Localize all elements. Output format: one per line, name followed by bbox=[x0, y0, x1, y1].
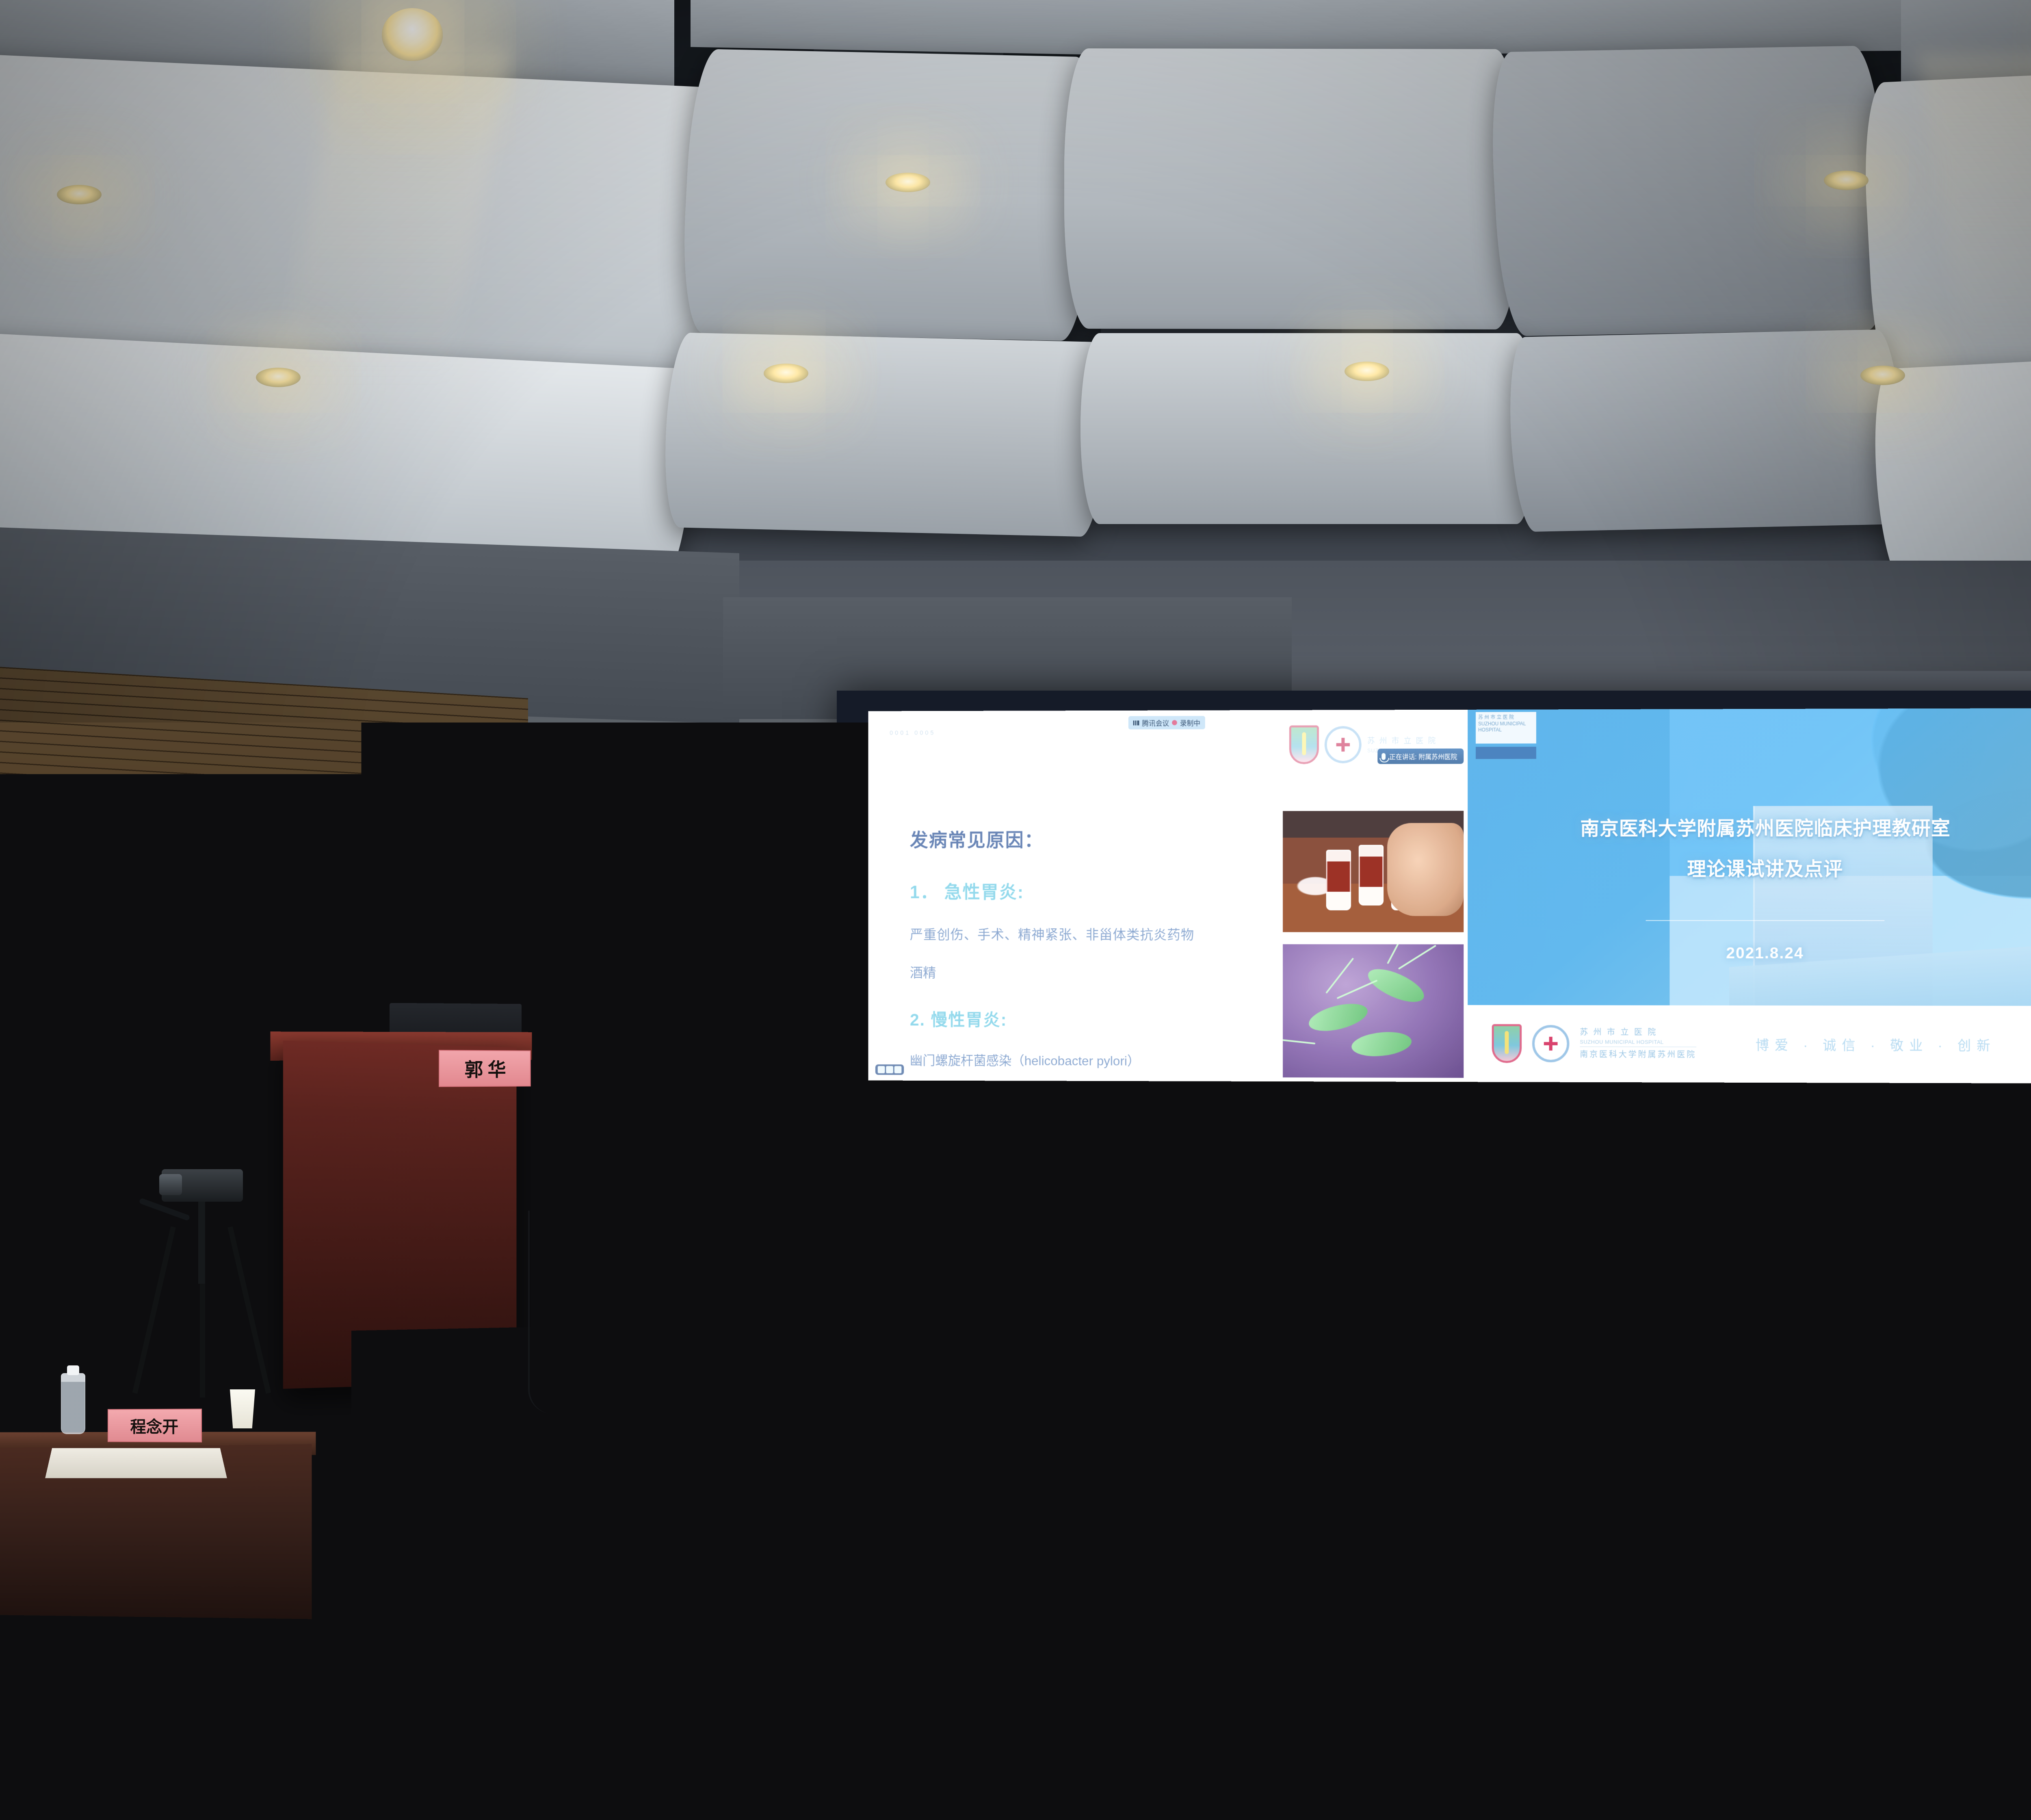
speaking-label: 正在讲话: 附属苏州医院 bbox=[1389, 751, 1457, 761]
corner-logo-en: SUZHOU MUNICIPAL HOSPITAL bbox=[1478, 721, 1534, 733]
toolbar-pen-icon[interactable] bbox=[878, 1066, 885, 1073]
title-slide: 市 立 医 院 苏 州 市 立 医 院 SUZHOU MUNICIPAL HOS… bbox=[1468, 708, 2031, 1083]
screen-panel-left: 腾讯会议 录制中 0001 0005 苏 州 市 立 医 院 SUZHOU MU… bbox=[868, 710, 1468, 1082]
ceiling-light bbox=[382, 8, 443, 61]
ppt-controls[interactable]: 0001 0005 bbox=[890, 730, 935, 737]
av-table bbox=[739, 1215, 1097, 1406]
presentation-title: 南京医科大学附属苏州医院临床护理教研室 bbox=[1468, 812, 2031, 841]
footer-crest-icon bbox=[1492, 1024, 1522, 1063]
microphone-icon bbox=[1381, 753, 1386, 760]
podium-nameplate: 郭 华 bbox=[439, 1050, 531, 1087]
presentation-date: 2021.8.24 bbox=[1468, 945, 2031, 963]
title-divider bbox=[1646, 920, 1885, 921]
slide-toolbar[interactable] bbox=[875, 1064, 904, 1075]
slide-corner-badge bbox=[1476, 747, 1536, 759]
ceiling-light bbox=[764, 364, 808, 383]
slide-item1-title: 1． 急性胃炎: bbox=[910, 877, 1024, 903]
front-desk-nameplate: 程念开 bbox=[108, 1408, 202, 1442]
audience-member bbox=[894, 1609, 1064, 1820]
footer-name-block: 苏 州 市 立 医 院 SUZHOU MUNICIPAL HOSPITAL 南京… bbox=[1580, 1026, 1696, 1061]
cable bbox=[938, 1207, 987, 1361]
hospital-motto: 博爱 · 诚信 · 敬业 · 创新 bbox=[1756, 1034, 1996, 1054]
toolbar-pointer-icon[interactable] bbox=[886, 1066, 893, 1073]
slide-item1-line1: 严重创伤、手术、精神紧张、非甾体类抗炎药物 bbox=[910, 924, 1194, 943]
av-laptop[interactable] bbox=[827, 1107, 936, 1209]
camera-lens-icon bbox=[159, 1174, 182, 1195]
slide-item2-title: 2. 慢性胃炎: bbox=[910, 1006, 1007, 1031]
slide-item2-text: 幽门螺旋杆菌感染（helicobacter pylori） bbox=[910, 1051, 1140, 1070]
cable bbox=[796, 1207, 886, 1377]
footer-affiliation: 南京医科大学附属苏州医院 bbox=[1580, 1049, 1696, 1062]
recording-label: 录制中 bbox=[1180, 717, 1200, 728]
ceiling-light bbox=[1860, 366, 1905, 385]
content-slide-left: 腾讯会议 录制中 0001 0005 苏 州 市 立 医 院 SUZHOU MU… bbox=[868, 710, 1468, 1082]
record-icon bbox=[1172, 720, 1177, 725]
audience-chair[interactable] bbox=[561, 1670, 812, 1820]
toolbar-grid-icon[interactable] bbox=[894, 1066, 902, 1073]
signal-icon bbox=[1133, 720, 1139, 725]
ceiling-light bbox=[1345, 362, 1389, 381]
ceiling-light bbox=[57, 185, 102, 204]
screen-panel-middle: 市 立 医 院 苏 州 市 立 医 院 SUZHOU MUNICIPAL HOS… bbox=[1468, 708, 2031, 1083]
water-bottle bbox=[1503, 1322, 1522, 1370]
audience-chair[interactable] bbox=[1097, 1674, 1357, 1820]
camcorder bbox=[162, 1169, 243, 1202]
speaking-badge: 正在讲话: 附属苏州医院 bbox=[1377, 748, 1464, 764]
person-torso bbox=[0, 1621, 183, 1792]
ceiling-light bbox=[886, 173, 930, 192]
person-torso bbox=[0, 1467, 106, 1629]
presentation-subtitle: 理论课试讲及点评 bbox=[1468, 853, 2031, 882]
footer-wreath-icon bbox=[1532, 1025, 1569, 1062]
meeting-app-label: 腾讯会议 bbox=[1142, 717, 1169, 728]
podium-cable bbox=[528, 1211, 593, 1414]
hospital-wreath-icon bbox=[1325, 726, 1362, 763]
corner-logo-cn: 苏 州 市 立 医 院 bbox=[1478, 714, 1534, 721]
person-head bbox=[886, 1609, 1072, 1820]
alcohol-photo bbox=[1283, 811, 1464, 932]
slide-footer: 苏 州 市 立 医 院 SUZHOU MUNICIPAL HOSPITAL 南京… bbox=[1468, 1005, 2031, 1083]
podium bbox=[283, 1040, 517, 1389]
slide-heading: 发病常见原因： bbox=[910, 825, 1044, 852]
hospital-crest-icon bbox=[1289, 725, 1319, 764]
footer-hospital-en: SUZHOU MUNICIPAL HOSPITAL bbox=[1580, 1039, 1696, 1047]
ceiling-light bbox=[256, 368, 301, 387]
audience-member bbox=[0, 1365, 89, 1617]
audience-chair[interactable] bbox=[1422, 1682, 1682, 1820]
hpylori-illustration bbox=[1283, 944, 1464, 1078]
face-mask-icon bbox=[1766, 1391, 1795, 1430]
tencent-meeting-badge: 腾讯会议 录制中 bbox=[1128, 716, 1205, 729]
slide-corner-logo: 苏 州 市 立 医 院 SUZHOU MUNICIPAL HOSPITAL bbox=[1476, 712, 1536, 743]
ceiling-light bbox=[1824, 171, 1869, 190]
camera-tripod bbox=[154, 1146, 248, 1397]
slide-item1-line2: 酒精 bbox=[910, 962, 936, 981]
footer-hospital-cn: 苏 州 市 立 医 院 bbox=[1580, 1026, 1696, 1039]
audience-chair[interactable] bbox=[252, 1662, 504, 1820]
auditorium-scene: 腾讯会议 录制中 0001 0005 苏 州 市 立 医 院 SUZHOU MU… bbox=[0, 0, 2031, 1820]
projection-screen[interactable]: 腾讯会议 录制中 0001 0005 苏 州 市 立 医 院 SUZHOU MU… bbox=[868, 706, 2031, 1085]
audience-chair[interactable] bbox=[1755, 1674, 2015, 1820]
glasses-icon bbox=[279, 997, 326, 1007]
hospital-name-cn: 苏 州 市 立 医 院 bbox=[1367, 736, 1456, 747]
